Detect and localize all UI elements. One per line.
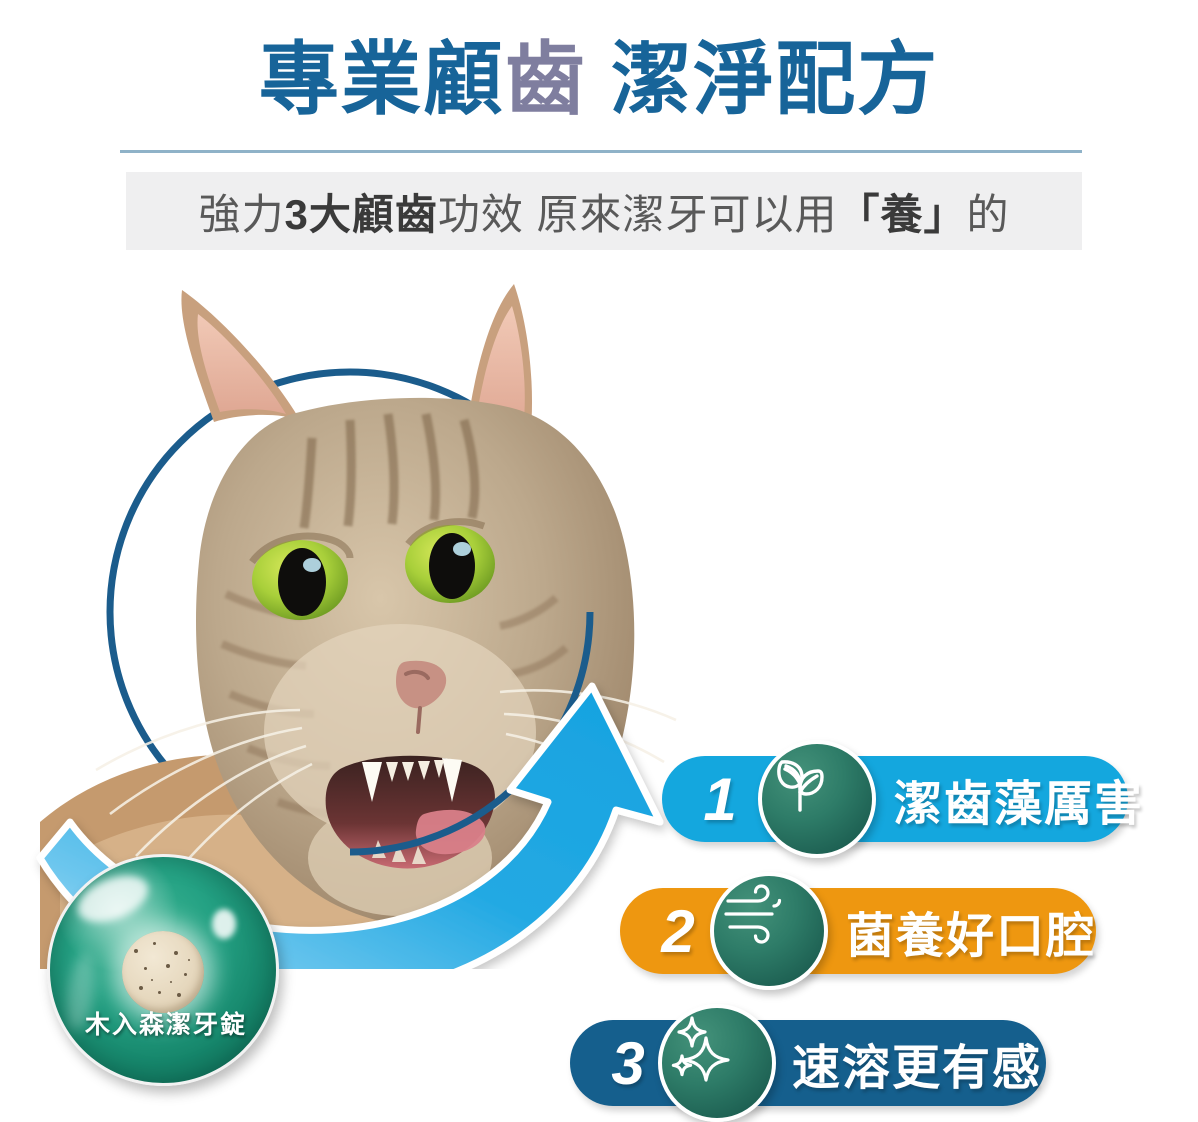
hero-illustration-stage: 木入森潔牙錠 1 潔齒藻厲害 2 bbox=[0, 262, 1198, 969]
wind-breath-glyph bbox=[714, 876, 790, 952]
sprout-leaf-glyph bbox=[762, 744, 838, 820]
wind-breath-icon bbox=[710, 872, 828, 990]
subtitle-part-4-bold: 「養」 bbox=[838, 181, 967, 242]
subtitle-band: 強力3大顧齒功效 原來潔牙可以用「養」的 bbox=[126, 172, 1082, 250]
title-divider bbox=[120, 150, 1082, 153]
sparkle-shine-icon bbox=[658, 1004, 776, 1122]
badge-3-number: 3 bbox=[596, 1020, 660, 1106]
sphere-highlight-right bbox=[212, 909, 236, 939]
page-title-part-3: 潔淨配方 bbox=[587, 35, 939, 124]
feature-badge-2[interactable]: 2 菌養好口腔 bbox=[620, 888, 1096, 974]
sparkle-shine-glyph bbox=[662, 1008, 738, 1084]
subtitle-part-5: 的 bbox=[967, 181, 1010, 242]
badge-2-number: 2 bbox=[646, 888, 710, 974]
subtitle-part-2-bold: 3大顧齒 bbox=[284, 181, 437, 242]
page-title: 專業顧齒 潔淨配方 bbox=[0, 32, 1198, 128]
product-label: 木入森潔牙錠 bbox=[50, 1005, 279, 1041]
feature-badge-3[interactable]: 3 速溶更有感 bbox=[570, 1020, 1046, 1106]
product-sphere[interactable]: 木入森潔牙錠 bbox=[47, 854, 279, 1086]
dental-tablet-icon bbox=[122, 931, 204, 1013]
subtitle-text: 強力3大顧齒功效 原來潔牙可以用「養」的 bbox=[126, 172, 1082, 250]
badge-2-label: 菌養好口腔 bbox=[846, 888, 1096, 974]
sprout-leaf-icon bbox=[758, 740, 876, 858]
feature-badge-1[interactable]: 1 潔齒藻厲害 bbox=[662, 756, 1128, 842]
page-title-part-1: 專業顧 bbox=[259, 35, 505, 124]
subtitle-part-3: 功效 原來潔牙可以用 bbox=[438, 181, 838, 242]
badge-1-label: 潔齒藻厲害 bbox=[894, 756, 1144, 842]
badge-1-number: 1 bbox=[688, 756, 752, 842]
header-section: 專業顧齒 潔淨配方 強力3大顧齒功效 原來潔牙可以用「養」的 bbox=[0, 0, 1198, 270]
page-title-accent-tooth: 齒 bbox=[505, 35, 587, 124]
subtitle-part-1: 強力 bbox=[198, 181, 284, 242]
badge-3-label: 速溶更有感 bbox=[792, 1020, 1042, 1106]
